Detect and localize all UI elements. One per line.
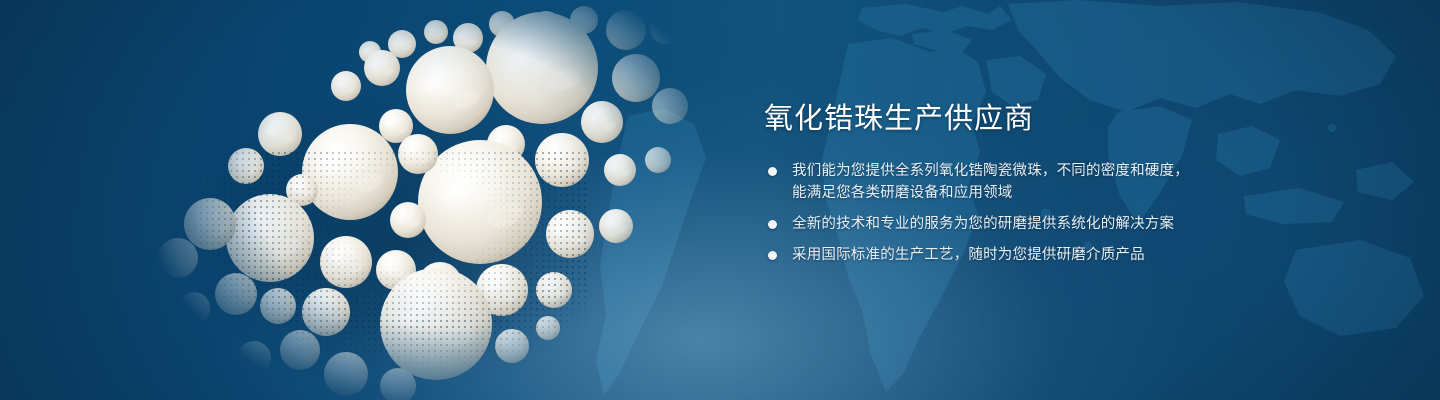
list-item: 我们能为您提供全系列氧化锆陶瓷微珠，不同的密度和硬度， 能满足您各类研磨设备和应… <box>764 160 1224 204</box>
bullet-dot-icon <box>768 251 777 260</box>
bullet-dot-icon <box>768 167 777 176</box>
list-item: 采用国际标准的生产工艺，随时为您提供研磨介质产品 <box>764 244 1224 266</box>
feature-list: 我们能为您提供全系列氧化锆陶瓷微珠，不同的密度和硬度， 能满足您各类研磨设备和应… <box>764 160 1224 266</box>
list-item-line-2: 能满足您各类研磨设备和应用领域 <box>792 182 1224 204</box>
hero-banner: 氧化锆珠生产供应商 我们能为您提供全系列氧化锆陶瓷微珠，不同的密度和硬度， 能满… <box>0 0 1440 400</box>
page-title: 氧化锆珠生产供应商 <box>764 104 1224 134</box>
bullet-dot-icon <box>768 220 777 229</box>
list-item: 全新的技术和专业的服务为您的研磨提供系统化的解决方案 <box>764 213 1224 235</box>
list-item-line-1: 我们能为您提供全系列氧化锆陶瓷微珠，不同的密度和硬度， <box>792 163 1189 179</box>
zirconia-beads-image <box>150 0 710 400</box>
list-item-line-1: 采用国际标准的生产工艺，随时为您提供研磨介质产品 <box>792 247 1145 263</box>
banner-copy: 氧化锆珠生产供应商 我们能为您提供全系列氧化锆陶瓷微珠，不同的密度和硬度， 能满… <box>764 104 1224 266</box>
list-item-line-1: 全新的技术和专业的服务为您的研磨提供系统化的解决方案 <box>792 216 1174 232</box>
